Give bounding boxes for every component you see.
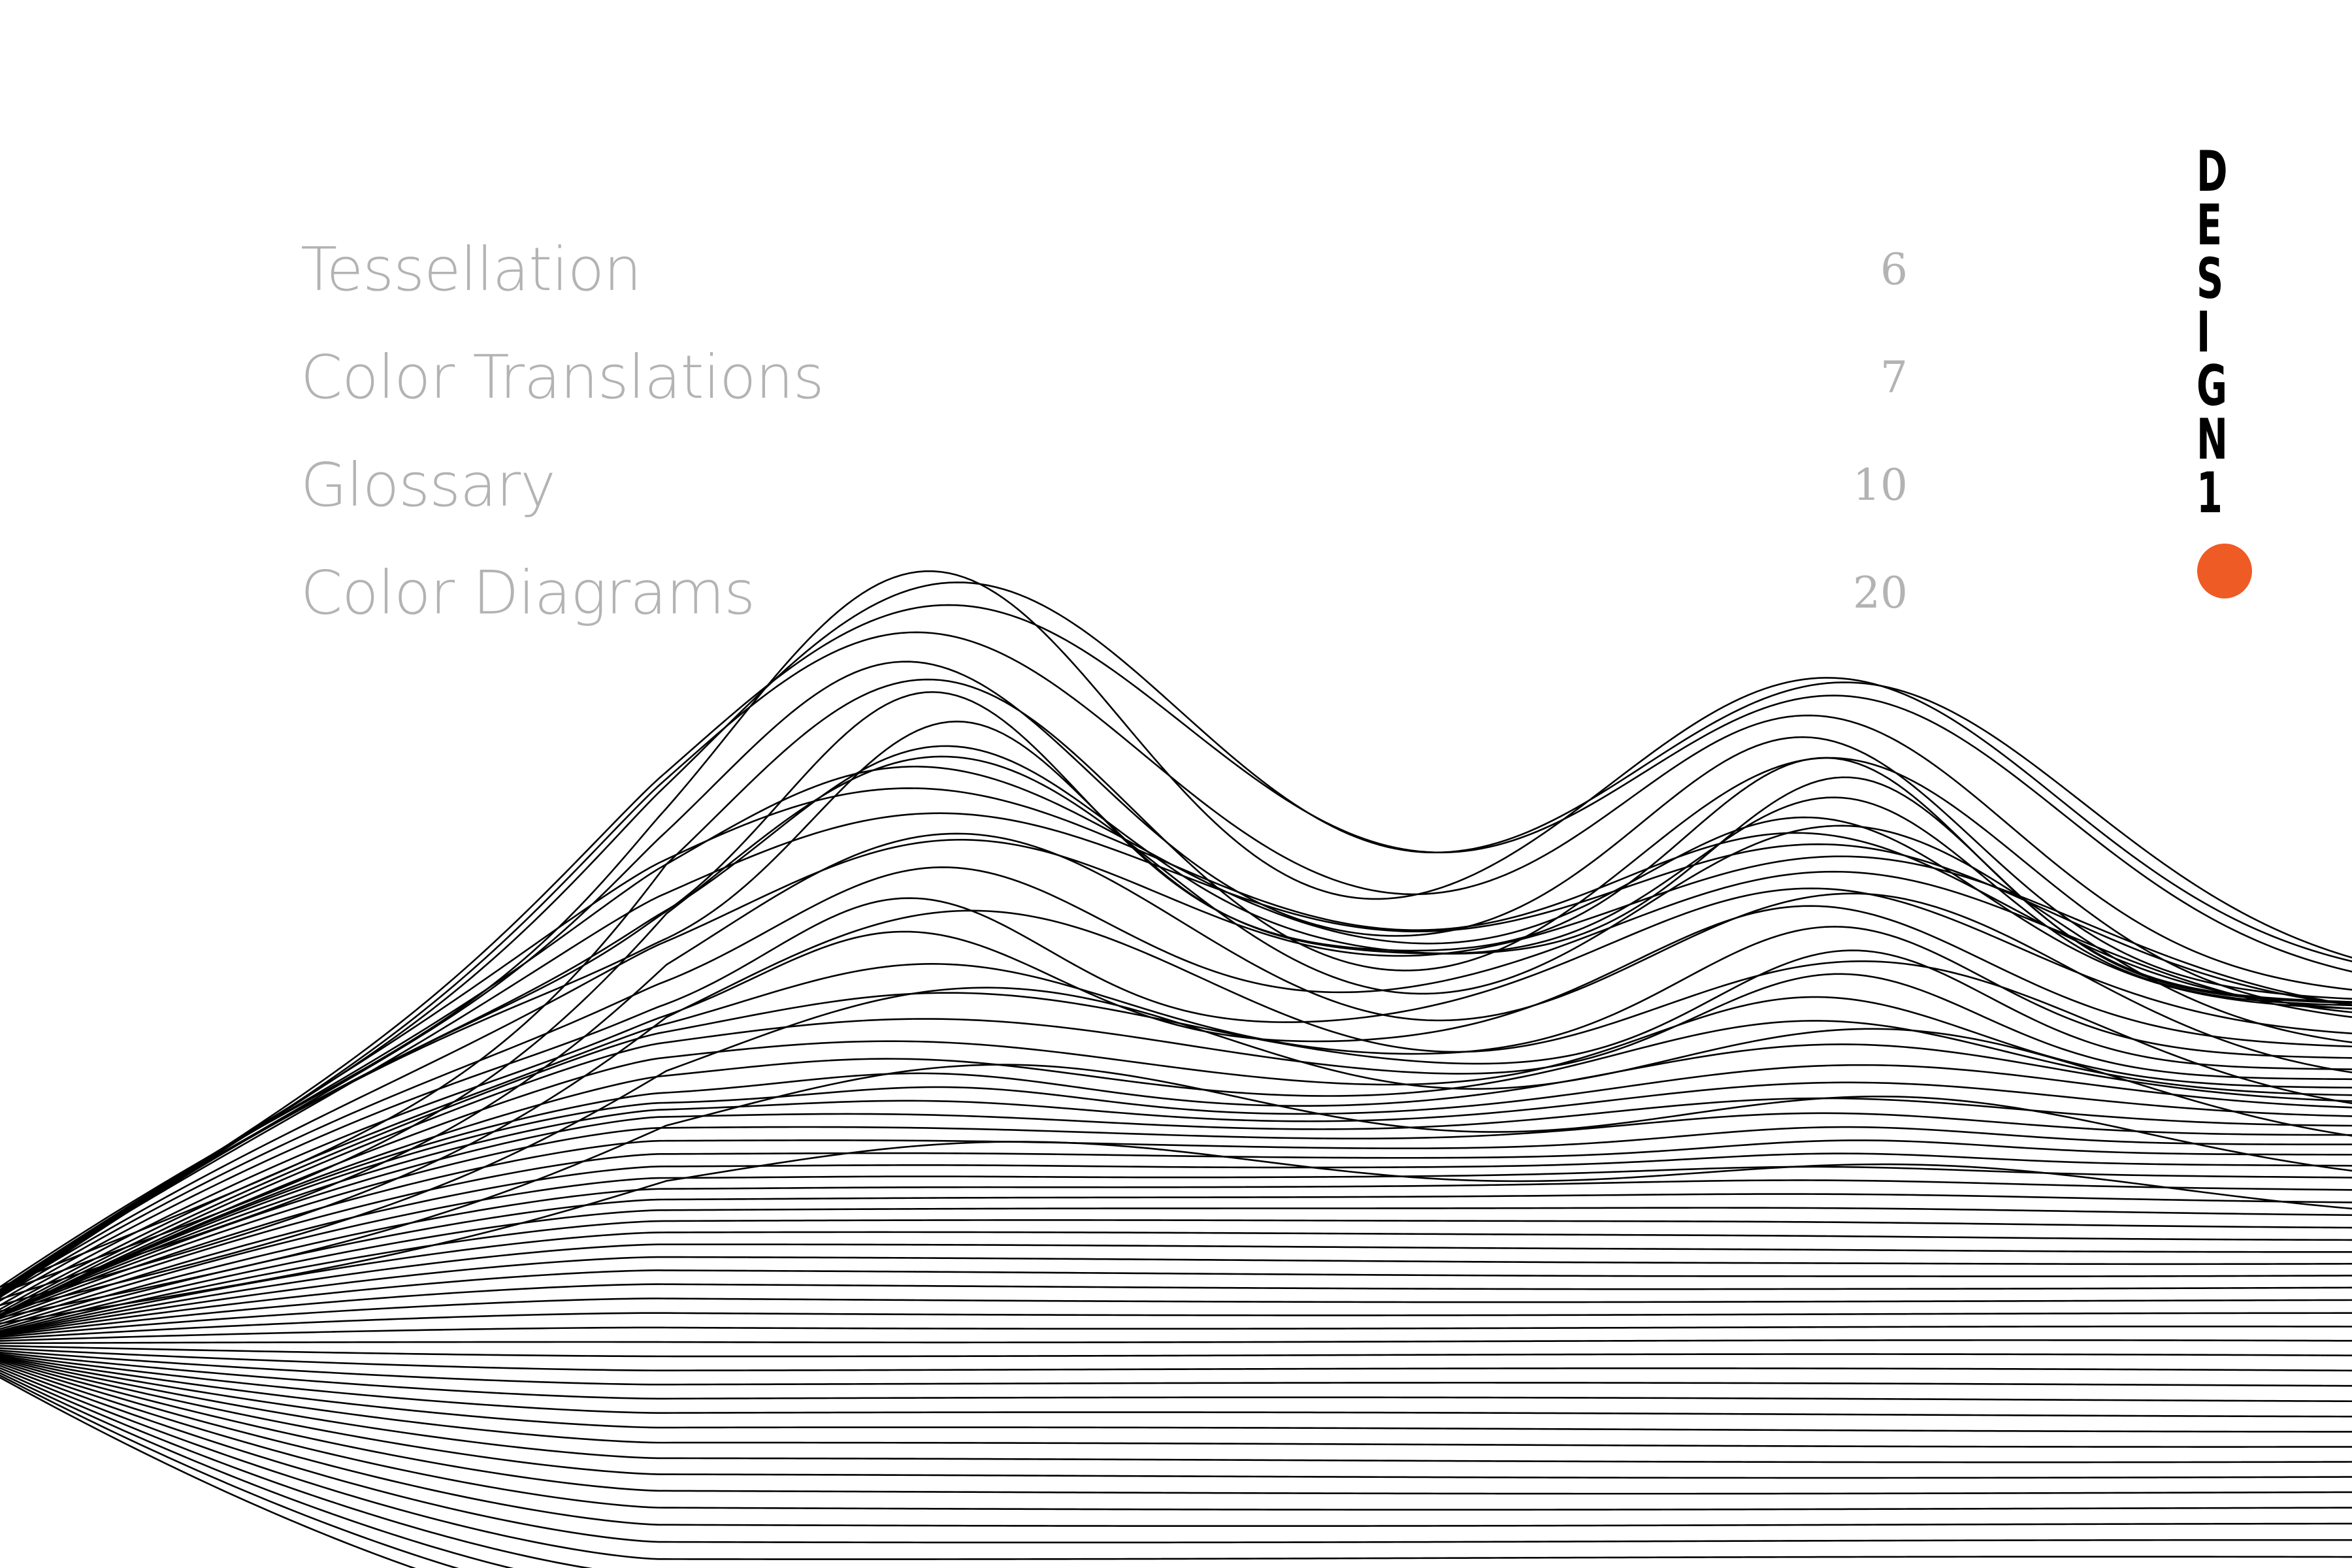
toc-entry-glossary[interactable]: Glossary 10 [301, 431, 1908, 539]
ridge-line [0, 1377, 2352, 1568]
brand-letter-e: E [2197, 199, 2222, 252]
ridge-line [0, 1065, 2352, 1315]
ridge-line [0, 662, 2352, 1298]
ridge-line [0, 746, 2352, 1294]
toc-entry-title: Tessellation [301, 240, 641, 300]
table-of-contents: Tessellation 6 Color Translations 7 Glos… [301, 216, 1908, 647]
ridge-line [0, 1340, 2352, 1343]
brand-letter-g: G [2197, 359, 2227, 413]
ridge-line [0, 1270, 2352, 1335]
toc-entry-tessellation[interactable]: Tessellation 6 [301, 216, 1908, 323]
toc-entry-page-number: 7 [1829, 356, 1908, 399]
ridge-line [0, 1365, 2352, 1543]
ridge-line [0, 1356, 2352, 1446]
poster-page: Tessellation 6 Color Translations 7 Glos… [0, 0, 2352, 1568]
ridge-line [0, 605, 2352, 1296]
toc-entry-color-translations[interactable]: Color Translations 7 [301, 323, 1908, 431]
ridge-line [0, 1364, 2352, 1526]
ridge-line [0, 582, 2352, 1292]
ridge-line [0, 926, 2352, 1309]
toc-entry-title: Color Diagrams [301, 563, 755, 623]
ridge-line [0, 1346, 2352, 1356]
brand-mark-design-1: D E S I G N 1 [2197, 145, 2268, 598]
toc-entry-page-number: 10 [1829, 464, 1908, 507]
ridge-line [0, 1113, 2352, 1315]
ridge-line [0, 1326, 2352, 1341]
brand-letter-d: D [2197, 145, 2228, 199]
brand-letter-i: I [2197, 306, 2210, 359]
orange-dot-icon [2197, 544, 2252, 598]
toc-entry-title: Color Translations [301, 348, 824, 408]
toc-entry-title: Glossary [301, 455, 555, 515]
ridge-line [0, 1194, 2352, 1330]
ridge-line [0, 766, 2352, 1291]
ridge-line [0, 1348, 2352, 1371]
brand-letter-s: S [2197, 252, 2223, 306]
ridge-line [0, 1257, 2352, 1334]
brand-letter-1: 1 [2197, 466, 2223, 520]
brand-letter-n: N [2197, 413, 2228, 466]
ridge-line [0, 1044, 2352, 1315]
ridge-line [0, 571, 2352, 1286]
ridge-line [0, 1180, 2352, 1326]
toc-entry-page-number: 6 [1829, 248, 1908, 291]
toc-entry-color-diagrams[interactable]: Color Diagrams 20 [301, 539, 1908, 647]
toc-entry-page-number: 20 [1829, 572, 1908, 615]
